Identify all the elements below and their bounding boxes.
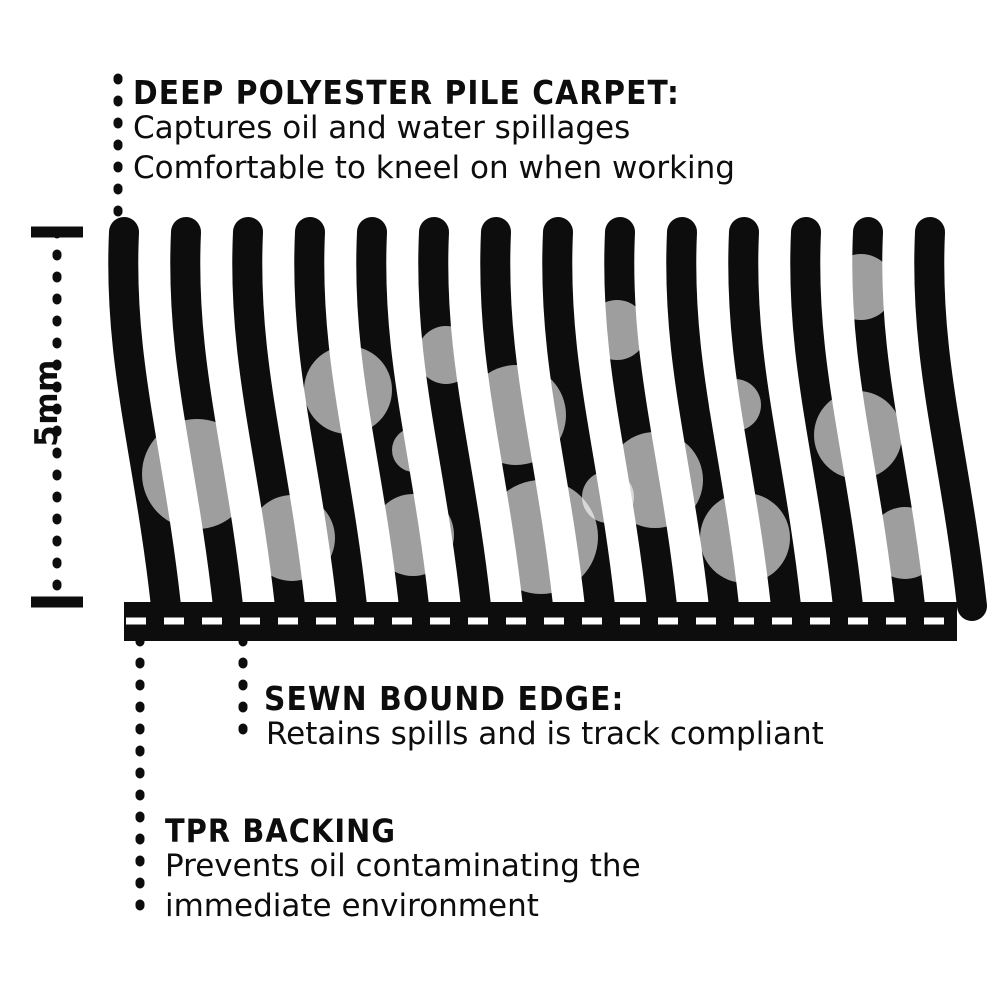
callout-tpr-backing: TPR BACKING Prevents oil contaminating t… [165,815,641,926]
carpet-pile-fiber [185,232,228,606]
spill-droplet [304,346,392,434]
spill-droplet [142,419,252,529]
carpet-pile-fiber [619,232,662,606]
spill-droplet [607,432,703,528]
spill-droplet [392,428,436,472]
spill-droplet [869,507,941,579]
tpr-backing-bar [124,602,957,641]
callout-line-tpr-backing-1: Prevents oil contaminating the [165,847,641,887]
spill-droplet [417,326,475,384]
callout-line-sewn-bound-edge-1: Retains spills and is track compliant [264,715,824,755]
spill-droplet [484,480,598,594]
spill-droplet [587,300,647,360]
diagram-canvas: 5mm DEEP POLYESTER PILE CARPET: Captures… [0,0,1000,1000]
spill-droplet [828,254,894,320]
callout-title-tpr-backing: TPR BACKING [165,815,641,847]
callout-deep-polyester-pile-carpet: DEEP POLYESTER PILE CARPET: Captures oil… [133,76,735,188]
spill-droplet [249,495,335,581]
callout-line-carpet-2: Comfortable to kneel on when working [133,149,735,189]
carpet-pile-fiber [123,232,166,606]
callout-title-sewn-bound-edge: SEWN BOUND EDGE: [264,682,824,715]
dimension-label-5mm: 5mm [29,348,65,458]
spill-droplet [700,493,790,583]
spill-droplet [466,365,566,465]
spill-droplet [372,494,454,576]
callout-sewn-bound-edge: SEWN BOUND EDGE: Retains spills and is t… [264,682,824,755]
callout-line-tpr-backing-2: immediate environment [165,887,641,927]
spill-droplet [709,379,761,431]
spill-droplet [814,391,902,479]
callout-line-carpet-1: Captures oil and water spillages [133,109,735,149]
callout-title-carpet: DEEP POLYESTER PILE CARPET: [133,76,735,109]
